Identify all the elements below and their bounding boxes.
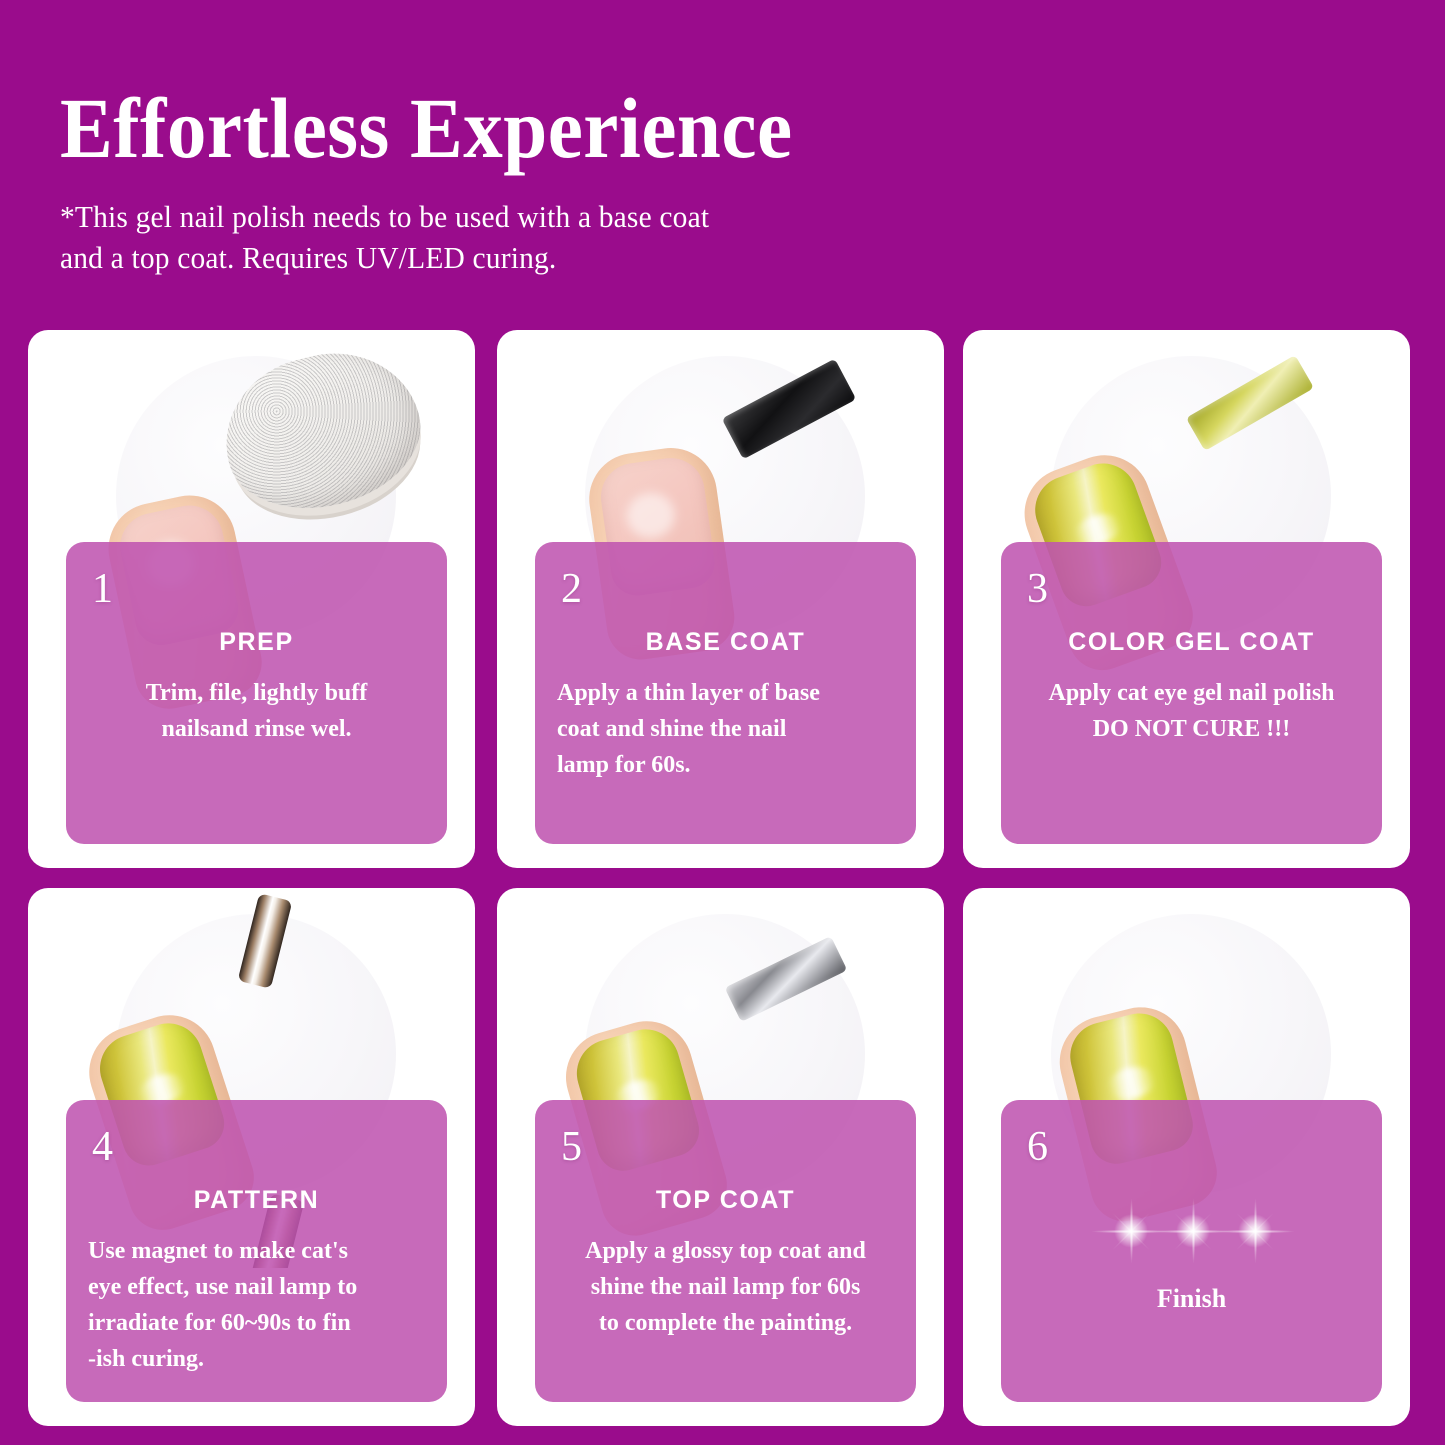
finish-label: Finish	[1023, 1284, 1360, 1314]
step-heading: PATTERN	[88, 1186, 425, 1215]
sparkle-icon	[1129, 1229, 1133, 1233]
step-card-1: 1 PREP Trim, file, lightly buff nailsand…	[28, 330, 475, 868]
page-subtitle: *This gel nail polish needs to be used w…	[60, 196, 709, 278]
step-2-panel: 2 BASE COAT Apply a thin layer of base c…	[535, 542, 916, 844]
step-body: Use magnet to make cat's eye effect, use…	[88, 1233, 425, 1377]
step-number: 6	[1027, 1126, 1048, 1168]
step-card-3: 3 COLOR GEL COAT Apply cat eye gel nail …	[963, 330, 1410, 868]
steps-grid: 1 PREP Trim, file, lightly buff nailsand…	[28, 330, 1417, 1426]
step-card-5: 5 TOP COAT Apply a glossy top coat and s…	[497, 888, 944, 1426]
step-number: 4	[92, 1126, 113, 1168]
step-card-4: 4 PATTERN Use magnet to make cat's eye e…	[28, 888, 475, 1426]
step-number: 5	[561, 1126, 582, 1168]
step-number: 3	[1027, 568, 1048, 610]
step-4-panel: 4 PATTERN Use magnet to make cat's eye e…	[66, 1100, 447, 1402]
step-body: Apply a thin layer of base coat and shin…	[557, 675, 894, 783]
step-card-6: 6 Finish	[963, 888, 1410, 1426]
step-body: Apply a glossy top coat and shine the na…	[557, 1233, 894, 1341]
sparkle-icon	[1191, 1229, 1195, 1233]
step-body: Apply cat eye gel nail polish DO NOT CUR…	[1023, 675, 1360, 747]
page-title: Effortless Experience	[60, 82, 793, 174]
step-heading: PREP	[88, 628, 425, 657]
sparkle-group	[1023, 1190, 1360, 1268]
step-3-panel: 3 COLOR GEL COAT Apply cat eye gel nail …	[1001, 542, 1382, 844]
step-number: 2	[561, 568, 582, 610]
step-card-2: 2 BASE COAT Apply a thin layer of base c…	[497, 330, 944, 868]
step-number: 1	[92, 568, 113, 610]
step-5-panel: 5 TOP COAT Apply a glossy top coat and s…	[535, 1100, 916, 1402]
step-heading: COLOR GEL COAT	[1023, 628, 1360, 657]
step-heading: BASE COAT	[557, 628, 894, 657]
step-body: Trim, file, lightly buff nailsand rinse …	[88, 675, 425, 747]
sparkle-icon	[1253, 1229, 1257, 1233]
step-6-panel: 6 Finish	[1001, 1100, 1382, 1402]
step-heading: TOP COAT	[557, 1186, 894, 1215]
step-1-panel: 1 PREP Trim, file, lightly buff nailsand…	[66, 542, 447, 844]
